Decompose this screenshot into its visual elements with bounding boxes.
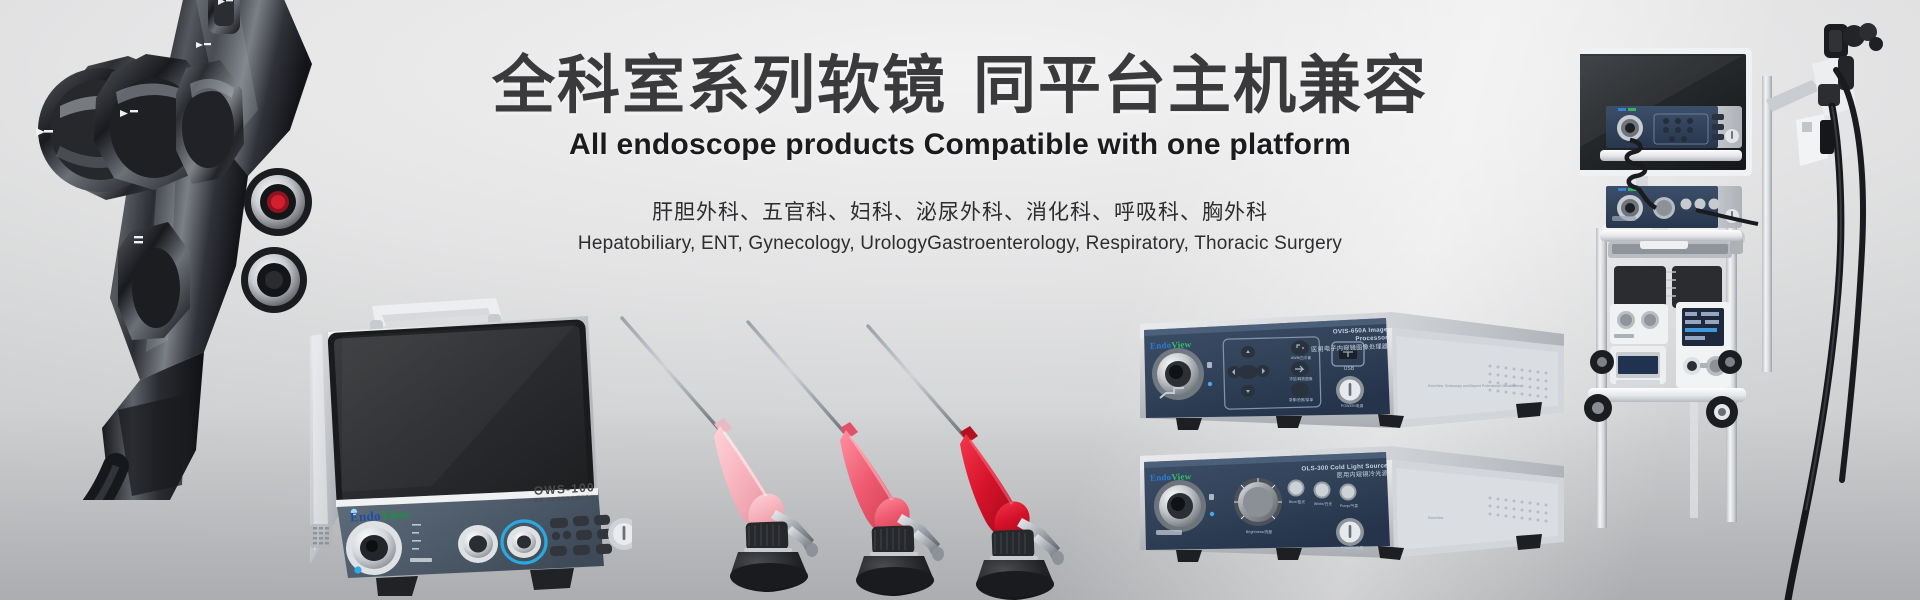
processor-brand-label: EndoView xyxy=(1150,339,1192,351)
endoscopy-workstation: EndoView OWS-100 医用·内窥镜图像处理工作站 xyxy=(292,296,632,596)
processor-model-label: OVIS-650A Image Processor 医用电子内窥镜图像处理器 xyxy=(1304,326,1389,355)
headline-part-1: 全科室系列软镜 xyxy=(492,51,947,121)
departments-english: Hepatobiliary, ENT, Gynecology, UrologyG… xyxy=(0,233,1920,255)
power-button[interactable] xyxy=(1336,376,1364,404)
awb-button-label: AWB/白平衡 xyxy=(1280,356,1322,361)
power-button[interactable] xyxy=(1336,518,1364,546)
light-pink-rigid-scope xyxy=(622,318,818,592)
record-button-label: 录像/拍照/菜单 xyxy=(1276,398,1326,403)
rigid-endoscope-group xyxy=(596,300,1096,600)
lightsource-side-brand: EndoView xyxy=(1428,512,1443,521)
workstation-keypad[interactable] xyxy=(550,515,614,557)
lightsource-power-label: POWER/电源 xyxy=(1324,546,1380,551)
scope-connector-socket[interactable] xyxy=(1152,348,1204,400)
pump-mode-label: Pump/气泵 xyxy=(1334,504,1364,509)
video-connector-port[interactable] xyxy=(458,525,498,563)
workstation-model-label: OWS-100 医用·内窥镜图像处理工作站 xyxy=(533,480,595,504)
brightness-knob[interactable] xyxy=(1234,478,1282,526)
headline-part-2: 同平台主机兼容 xyxy=(973,51,1428,121)
subheadline-english: All endoscope products Compatible with o… xyxy=(0,128,1920,162)
headline: 全科室系列软镜同平台主机兼容 xyxy=(0,52,1920,120)
banner-text-block: 全科室系列软镜同平台主机兼容 All endoscope products Co… xyxy=(0,52,1920,255)
processor-side-tagline: Endoscopy and Beyond Professional Visual… xyxy=(1445,384,1520,388)
cart-pump-unit xyxy=(1676,302,1730,388)
workstation-display[interactable] xyxy=(327,319,594,509)
cart-bottom-bay xyxy=(1614,266,1722,308)
remote-switch xyxy=(208,0,240,34)
power-knob[interactable] xyxy=(608,518,632,550)
workstation-brand-label: EndoView xyxy=(350,506,411,525)
freeze-button-label: 冻结/释放图像 xyxy=(1280,377,1322,382)
scope-connector-port[interactable] xyxy=(502,521,546,563)
usb-label: USB xyxy=(1334,366,1364,372)
speaker-grille xyxy=(310,524,332,548)
product-banner: 全科室系列软镜同平台主机兼容 All endoscope products Co… xyxy=(0,0,1920,600)
lightsource-model-label: OLS-300 Cold Light Source 医用内窥镜冷光源 xyxy=(1300,462,1389,482)
processor-side-brand: EndoView Endoscopy and Beyond Profession… xyxy=(1428,380,1521,389)
brightness-knob-label: Brightness/亮度 xyxy=(1232,530,1286,535)
workstation-foot-left xyxy=(376,576,418,596)
lightsource-brand-label: EndoView xyxy=(1150,471,1192,483)
workstation-foot-right xyxy=(530,568,574,590)
port-label-strip xyxy=(1156,530,1182,535)
lock-icon xyxy=(1207,362,1212,368)
cart-insufflator xyxy=(1610,304,1668,385)
status-led xyxy=(1208,382,1212,386)
departments-chinese: 肝胆外科、五官科、妇科、泌尿外科、消化科、呼吸科、胸外科 xyxy=(0,196,1920,226)
cart-post-left xyxy=(1596,228,1607,528)
processor-power-label: POWER/电源 xyxy=(1324,404,1380,409)
fiber-optic-port[interactable] xyxy=(1154,480,1206,532)
status-led-bottom xyxy=(354,566,361,573)
processor-lightsource-stack: EndoView OVIS-650A Image Processor 医用电子内… xyxy=(1128,306,1568,576)
